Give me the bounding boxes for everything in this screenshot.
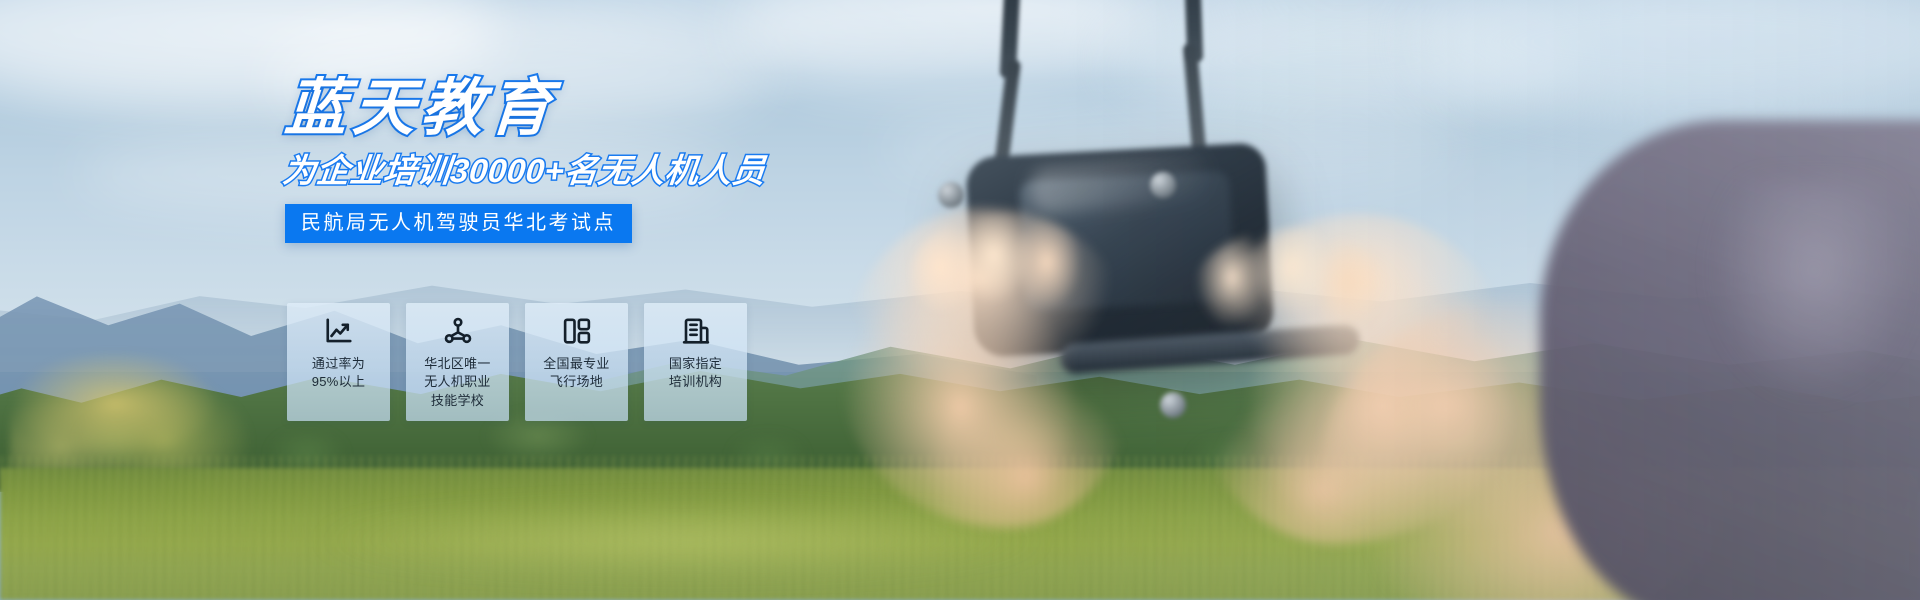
shoulder-highlight: [1670, 180, 1910, 480]
feature-card-flight-field[interactable]: 全国最专业 飞行场地: [525, 303, 628, 421]
hero-banner: 蓝天教育 为企业培训30000+名无人机人员 民航局无人机驾驶员华北考试点 通过…: [0, 0, 1920, 600]
status-badge: 民航局无人机驾驶员华北考试点: [285, 204, 632, 243]
subtitle: 为企业培训30000+名无人机人员: [281, 154, 984, 187]
banner-text-block: 蓝天教育 为企业培训30000+名无人机人员 民航局无人机驾驶员华北考试点: [283, 78, 983, 243]
page-title: 蓝天教育: [281, 78, 985, 140]
controller-joystick: [1150, 172, 1176, 198]
feature-card-label: 全国最专业 飞行场地: [543, 355, 610, 392]
building-institution-icon: [681, 316, 711, 346]
feature-card-pass-rate[interactable]: 通过率为 95%以上: [287, 303, 390, 421]
layout-grid-icon: [562, 316, 592, 346]
feature-card-list: 通过率为 95%以上 华北区唯一 无人机职业 技能学校: [287, 303, 747, 421]
feature-card-label: 国家指定 培训机构: [669, 355, 722, 392]
right-hand-fingers: [1192, 228, 1392, 358]
feature-card-label: 华北区唯一 无人机职业 技能学校: [424, 355, 491, 410]
feature-card-state-designated[interactable]: 国家指定 培训机构: [644, 303, 747, 421]
trending-up-chart-icon: [324, 316, 354, 346]
feature-card-label: 通过率为 95%以上: [312, 355, 366, 392]
feature-card-only-school[interactable]: 华北区唯一 无人机职业 技能学校: [406, 303, 509, 421]
controller-knob: [1160, 392, 1186, 418]
network-hierarchy-icon: [443, 316, 473, 346]
